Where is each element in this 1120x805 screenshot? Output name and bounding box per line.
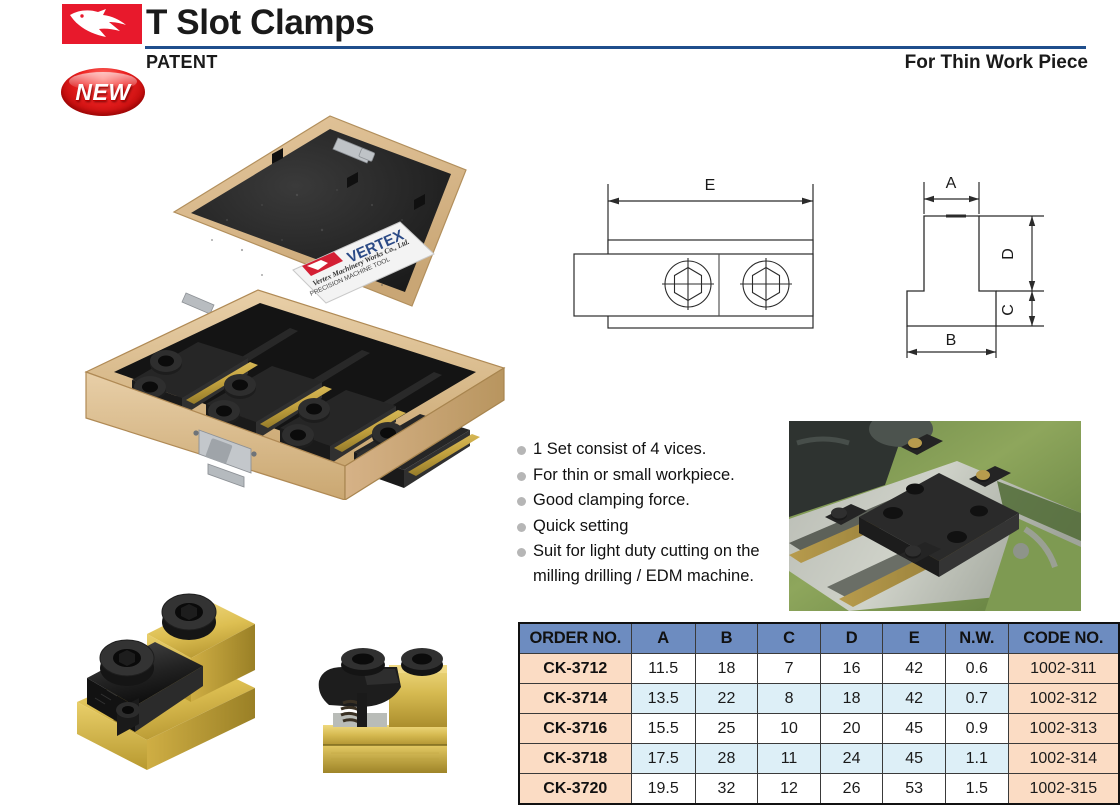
- cell-a: 19.5: [631, 774, 695, 805]
- feature-text: 1 Set consist of 4 vices.: [533, 437, 706, 462]
- product-photo-side: [305, 637, 495, 785]
- cell-nw: 1.1: [945, 744, 1008, 774]
- feature-text: Quick setting: [533, 514, 628, 539]
- cell-code-no: 1002-315: [1008, 774, 1119, 805]
- cell-order-no: CK-3720: [519, 774, 631, 805]
- cell-a: 15.5: [631, 714, 695, 744]
- cell-order-no: CK-3718: [519, 744, 631, 774]
- cell-e: 42: [883, 654, 946, 684]
- column-header-code-no: CODE NO.: [1008, 623, 1119, 654]
- specification-table: ORDER NO. A B C D E N.W. CODE NO. CK-371…: [518, 622, 1120, 805]
- cell-b: 28: [695, 744, 758, 774]
- bullet-dot-icon: [517, 446, 526, 455]
- column-header-e: E: [883, 623, 946, 654]
- cell-c: 11: [758, 744, 821, 774]
- feature-text: For thin or small workpiece.: [533, 463, 735, 488]
- catalog-page: T Slot Clamps PATENT For Thin Work Piece…: [0, 0, 1120, 790]
- bullet-dot-icon: [517, 548, 526, 557]
- cell-code-no: 1002-311: [1008, 654, 1119, 684]
- cell-nw: 1.5: [945, 774, 1008, 805]
- cell-b: 32: [695, 774, 758, 805]
- cell-c: 7: [758, 654, 821, 684]
- column-header-order-no: ORDER NO.: [519, 623, 631, 654]
- cell-b: 18: [695, 654, 758, 684]
- feature-list: 1 Set consist of 4 vices. For thin or sm…: [517, 437, 787, 589]
- cell-a: 17.5: [631, 744, 695, 774]
- cell-order-no: CK-3716: [519, 714, 631, 744]
- cell-nw: 0.7: [945, 684, 1008, 714]
- cell-a: 11.5: [631, 654, 695, 684]
- header-rule: [145, 46, 1086, 49]
- dimension-label-c: C: [1000, 304, 1017, 316]
- dimension-label-e: E: [705, 177, 716, 194]
- list-item: Good clamping force.: [517, 488, 787, 513]
- feature-text: Good clamping force.: [533, 488, 690, 513]
- list-item: 1 Set consist of 4 vices.: [517, 437, 787, 462]
- technical-drawing-side-view: A D C: [876, 158, 1086, 363]
- column-header-nw: N.W.: [945, 623, 1008, 654]
- cell-code-no: 1002-312: [1008, 684, 1119, 714]
- bullet-dot-icon: [517, 472, 526, 481]
- cell-d: 16: [820, 654, 883, 684]
- cell-d: 24: [820, 744, 883, 774]
- table-row: CK-3720 19.5 32 12 26 53 1.5 1002-315: [519, 774, 1119, 805]
- dimension-label-d: D: [1000, 248, 1017, 260]
- table-row: CK-3714 13.5 22 8 18 42 0.7 1002-312: [519, 684, 1119, 714]
- cell-d: 26: [820, 774, 883, 805]
- cell-order-no: CK-3712: [519, 654, 631, 684]
- cell-code-no: 1002-313: [1008, 714, 1119, 744]
- cell-c: 8: [758, 684, 821, 714]
- application-photo: [789, 421, 1081, 611]
- table-row: CK-3716 15.5 25 10 20 45 0.9 1002-313: [519, 714, 1119, 744]
- column-header-c: C: [758, 623, 821, 654]
- dimension-label-b: B: [946, 332, 957, 349]
- dimension-label-a: A: [946, 175, 957, 192]
- feature-text: Suit for light duty cutting on the milli…: [533, 539, 787, 588]
- cell-nw: 0.6: [945, 654, 1008, 684]
- list-item: Quick setting: [517, 514, 787, 539]
- cell-e: 45: [883, 714, 946, 744]
- cell-e: 42: [883, 684, 946, 714]
- cell-e: 45: [883, 744, 946, 774]
- list-item: Suit for light duty cutting on the milli…: [517, 539, 787, 588]
- bullet-dot-icon: [517, 497, 526, 506]
- page-title: T Slot Clamps: [146, 2, 374, 44]
- cell-a: 13.5: [631, 684, 695, 714]
- cell-b: 25: [695, 714, 758, 744]
- cell-c: 10: [758, 714, 821, 744]
- cell-order-no: CK-3714: [519, 684, 631, 714]
- bullet-dot-icon: [517, 523, 526, 532]
- list-item: For thin or small workpiece.: [517, 463, 787, 488]
- cell-code-no: 1002-314: [1008, 744, 1119, 774]
- vertex-eagle-icon: [62, 4, 142, 44]
- product-photo-angled: [55, 558, 270, 783]
- column-header-d: D: [820, 623, 883, 654]
- cell-d: 18: [820, 684, 883, 714]
- header-tagline: For Thin Work Piece: [905, 52, 1088, 74]
- cell-nw: 0.9: [945, 714, 1008, 744]
- cell-d: 20: [820, 714, 883, 744]
- cell-b: 22: [695, 684, 758, 714]
- technical-drawing-top-view: E: [560, 158, 860, 358]
- cell-c: 12: [758, 774, 821, 805]
- patent-label: PATENT: [146, 52, 218, 73]
- cell-e: 53: [883, 774, 946, 805]
- table-row: CK-3718 17.5 28 11 24 45 1.1 1002-314: [519, 744, 1119, 774]
- column-header-a: A: [631, 623, 695, 654]
- table-row: CK-3712 11.5 18 7 16 42 0.6 1002-311: [519, 654, 1119, 684]
- table-header-row: ORDER NO. A B C D E N.W. CODE NO.: [519, 623, 1119, 654]
- wooden-case-photo: VERTEX Vertex Machinery Works Co., Ltd. …: [62, 100, 522, 500]
- column-header-b: B: [695, 623, 758, 654]
